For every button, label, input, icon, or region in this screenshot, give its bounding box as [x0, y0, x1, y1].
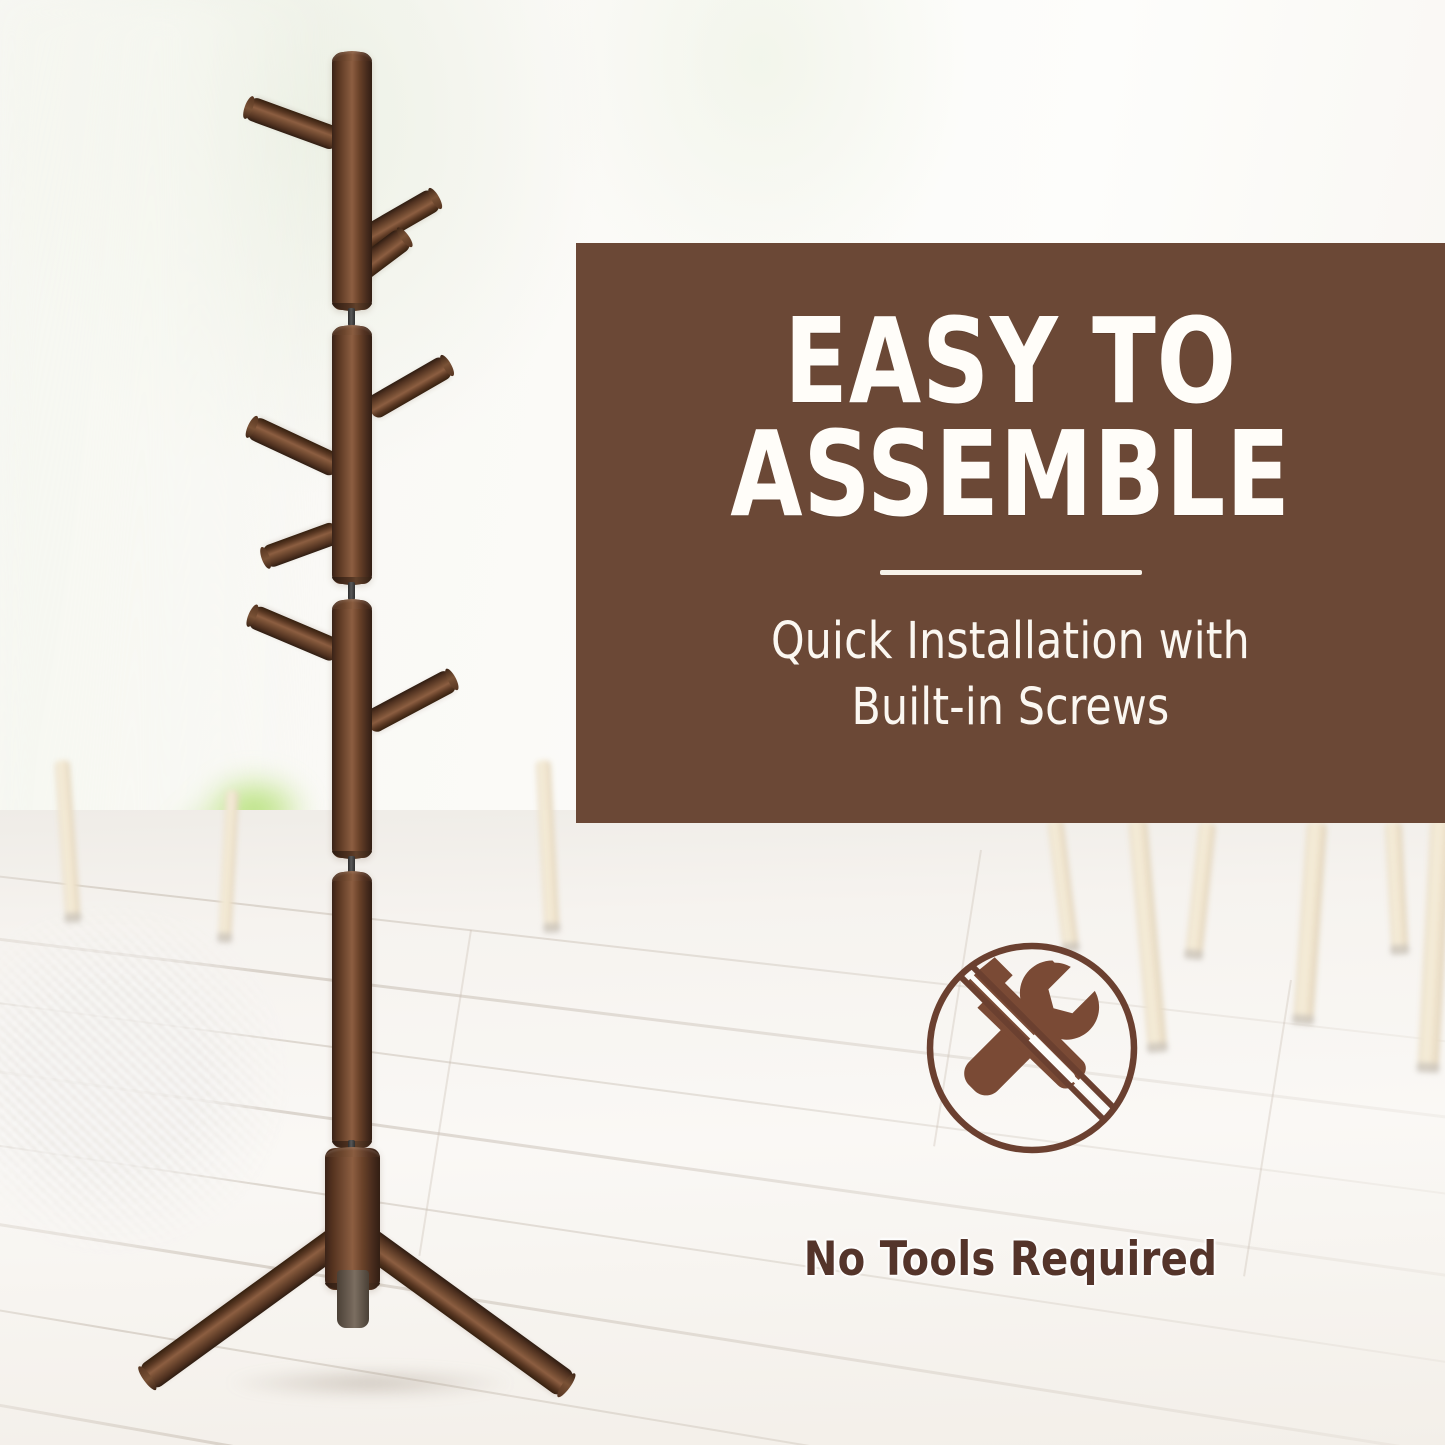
- headline-line-2: ASSEMBLE: [730, 418, 1291, 531]
- product-marketing-image: EASY TO ASSEMBLE Quick Installation with…: [0, 0, 1445, 1445]
- page-title: EASY TO ASSEMBLE: [730, 305, 1291, 532]
- no-tools-label: No Tools Required: [598, 1232, 1424, 1287]
- hook-branch: [362, 668, 458, 734]
- rack-pole-segment: [332, 872, 372, 1148]
- hook-branch: [261, 521, 342, 569]
- no-tools-icon: [922, 938, 1142, 1158]
- title-divider: [880, 570, 1142, 575]
- hook-branch: [246, 416, 343, 478]
- rack-pole-segment: [332, 600, 372, 858]
- rack-floor-shadow: [170, 1360, 570, 1406]
- hook-branch: [244, 96, 342, 151]
- hook-branch: [364, 355, 454, 421]
- rack-pole-segment: [332, 326, 372, 584]
- built-in-screw: [348, 308, 355, 326]
- subtitle-line-1: Quick Installation with: [771, 612, 1250, 671]
- subtitle-line-2: Built-in Screws: [852, 678, 1170, 737]
- rack-pole-segment: [332, 52, 372, 310]
- hook-branch: [247, 604, 343, 663]
- feature-callout-panel: EASY TO ASSEMBLE Quick Installation with…: [576, 243, 1445, 823]
- base-hub: [325, 1148, 380, 1290]
- base-center-foot: [337, 1270, 369, 1328]
- subtitle: Quick Installation with Built-in Screws: [771, 609, 1250, 742]
- built-in-screw: [348, 582, 355, 600]
